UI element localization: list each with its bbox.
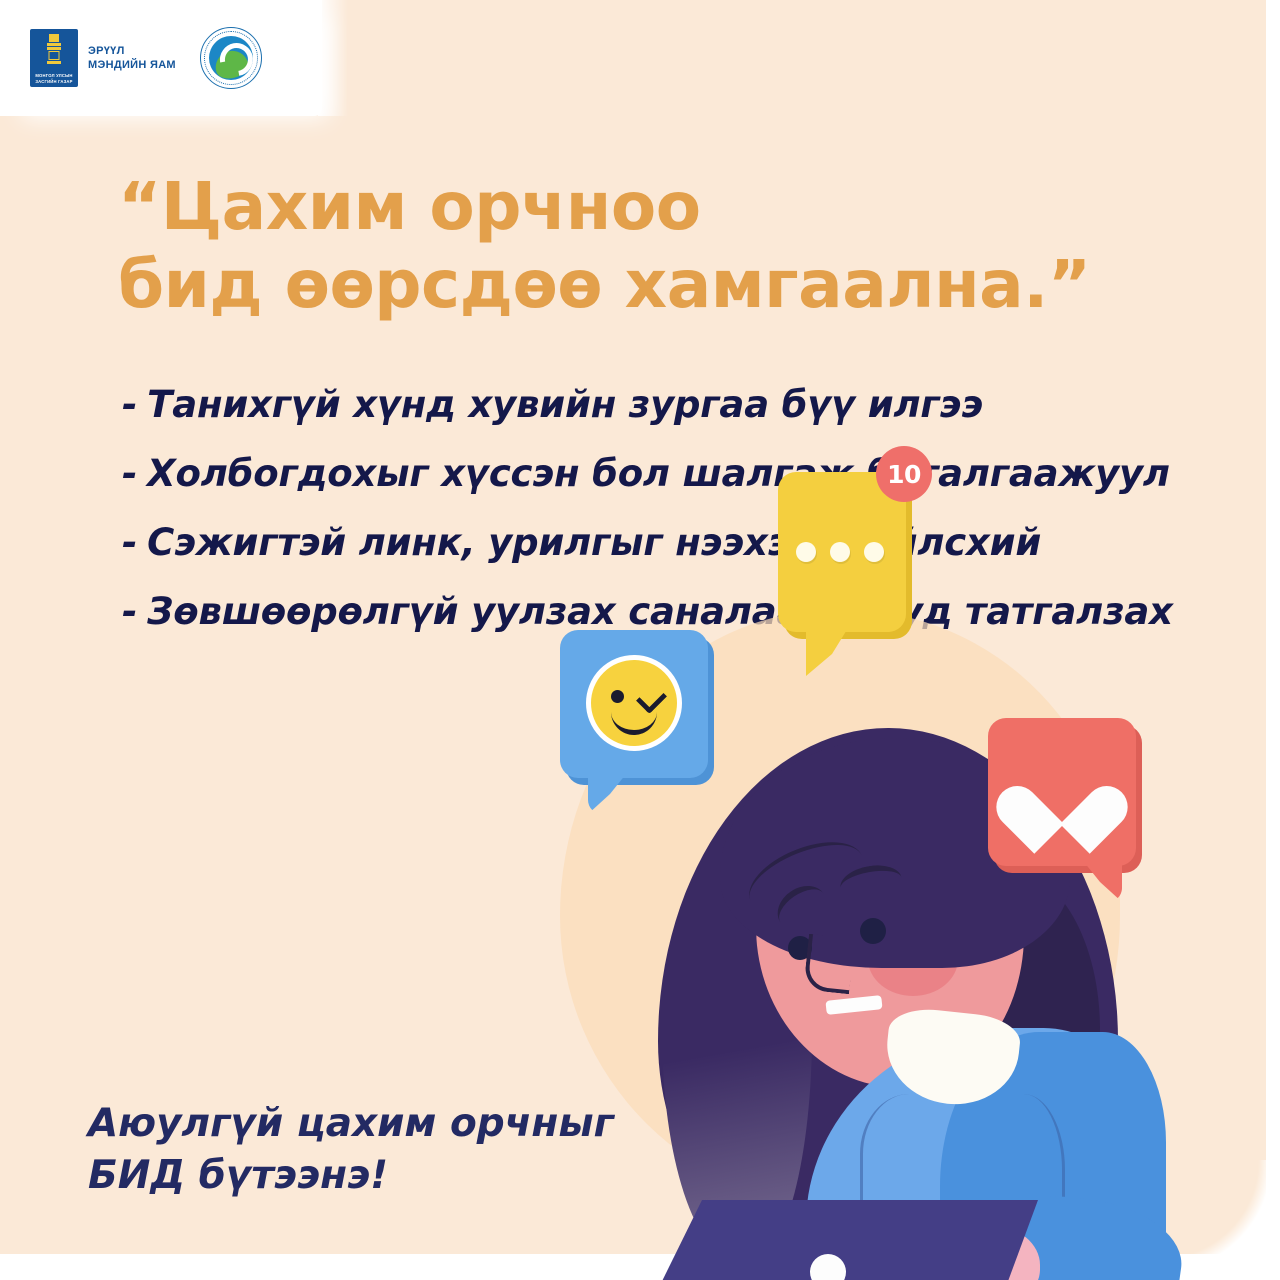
logo-group: МОНГОЛ УЛСЫН ЗАСГИЙН ГАЗАР ЭРҮҮЛ МЭНДИЙН… bbox=[0, 0, 322, 116]
poster-canvas: МОНГОЛ УЛСЫН ЗАСГИЙН ГАЗАР ЭРҮҮЛ МЭНДИЙН… bbox=[0, 0, 1280, 1280]
bullet-dash: - bbox=[122, 590, 137, 633]
bullet-dash: - bbox=[122, 452, 137, 495]
bullet-dash: - bbox=[122, 383, 137, 426]
list-item-label: Сэжигтэй линк, урилгыг нээхээс зайлсхий bbox=[147, 521, 1041, 564]
bubble-tail bbox=[588, 774, 626, 814]
page-title-line1: “Цахим орчноо bbox=[118, 168, 701, 245]
notification-badge: 10 bbox=[876, 446, 932, 502]
tagline-line1: Аюулгүй цахим орчныг bbox=[88, 1098, 614, 1150]
typing-bubble: 10 bbox=[778, 472, 906, 632]
tagline-line2: БИД бүтээнэ! bbox=[88, 1150, 614, 1202]
heart-icon bbox=[1022, 758, 1102, 830]
eye-right bbox=[860, 918, 886, 944]
ncph-logo-core bbox=[209, 36, 253, 80]
right-white-margin bbox=[1266, 0, 1280, 1280]
bullet-dash: - bbox=[122, 521, 137, 564]
bubble-tail bbox=[1084, 862, 1122, 902]
illustration: 10 bbox=[520, 600, 1220, 1280]
government-of-mongolia-logo: МОНГОЛ УЛСЫН ЗАСГИЙН ГАЗАР ЭРҮҮЛ МЭНДИЙН… bbox=[30, 29, 176, 87]
page-title: “Цахим орчноо бид өөрсдөө хамгаална.” bbox=[118, 168, 1138, 324]
soyombo-emblem-icon: МОНГОЛ УЛСЫН ЗАСГИЙН ГАЗАР bbox=[30, 29, 78, 87]
list-item: -Холбогдохыг хүссэн бол шалгаж баталгааж… bbox=[122, 439, 1192, 508]
laptop-icon bbox=[638, 1200, 1038, 1280]
ncph-logo-icon bbox=[200, 27, 262, 89]
list-item: -Сэжигтэй линк, урилгыг нээхээс зайлсхий bbox=[122, 508, 1192, 577]
laptop-lid-logo bbox=[810, 1254, 846, 1280]
tagline: Аюулгүй цахим орчныг БИД бүтээнэ! bbox=[88, 1098, 614, 1202]
soyombo-symbol-icon bbox=[46, 34, 62, 64]
ministry-name: ЭРҮҮЛ МЭНДИЙН ЯАМ bbox=[88, 44, 176, 72]
page-title-line2: бид өөрсдөө хамгаална.” bbox=[118, 246, 1138, 324]
winking-face-icon bbox=[586, 655, 682, 751]
list-item: -Танихгүй хүнд хувийн зургаа бүү илгээ bbox=[122, 370, 1192, 439]
typing-dots-icon bbox=[796, 542, 884, 562]
list-item-label: Танихгүй хүнд хувийн зургаа бүү илгээ bbox=[147, 383, 983, 426]
gov-emblem-caption: МОНГОЛ УЛСЫН ЗАСГИЙН ГАЗАР bbox=[30, 73, 78, 84]
emoji-eye bbox=[611, 690, 624, 703]
bubble-tail bbox=[806, 628, 848, 676]
like-bubble bbox=[988, 718, 1136, 866]
ministry-name-line1: ЭРҮҮЛ bbox=[88, 44, 176, 58]
list-item-label: Холбогдохыг хүссэн бол шалгаж баталгаажу… bbox=[147, 452, 1170, 495]
ministry-name-line2: МЭНДИЙН ЯАМ bbox=[88, 58, 176, 72]
emoji-mouth bbox=[611, 706, 657, 735]
emoji-bubble bbox=[560, 630, 708, 778]
